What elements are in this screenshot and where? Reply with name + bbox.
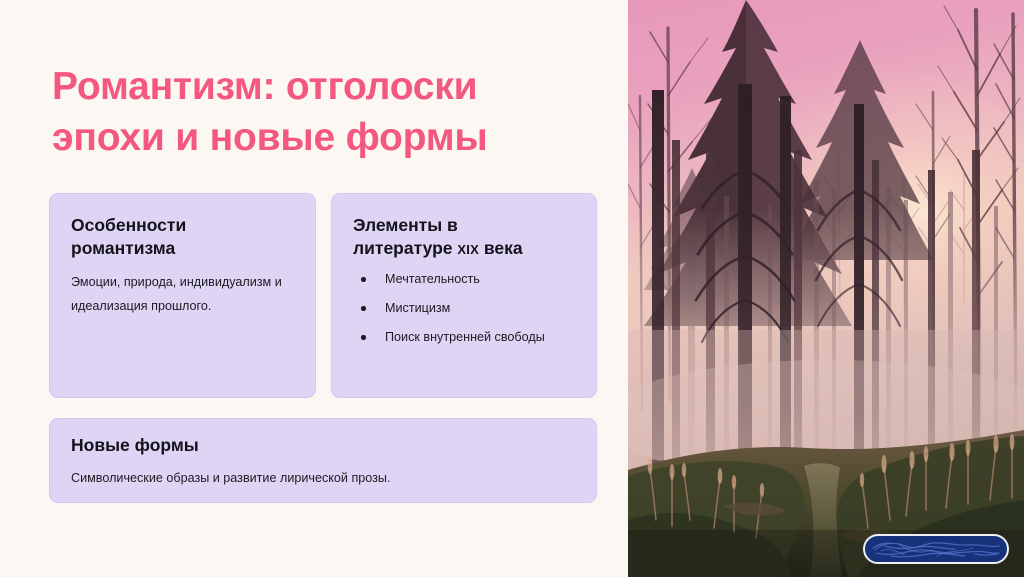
slide-canvas: Романтизм: отголоски эпохи и новые формы…	[0, 0, 1024, 577]
card-title-line-2-prefix: литературе	[353, 238, 457, 258]
forest-photo	[628, 0, 1024, 577]
watermark-badge[interactable]	[863, 534, 1009, 564]
card-body-text: Символические образы и развитие лирическ…	[50, 457, 596, 490]
card-body-text: Эмоции, природа, индивидуализм и идеализ…	[50, 260, 315, 318]
list-item: Мистицизм	[355, 299, 578, 319]
card-title-century: XIX	[457, 238, 479, 259]
list-item-label: Поиск внутренней свободы	[385, 330, 545, 344]
bullet-dot-icon	[361, 306, 366, 311]
list-item: Поиск внутренней свободы	[355, 328, 578, 348]
card-title: Элементы влитературе XIX века	[332, 194, 596, 261]
bullet-list: Мечтательность Мистицизм Поиск внутренне…	[332, 261, 596, 348]
list-item-label: Мечтательность	[385, 272, 480, 286]
page-title: Романтизм: отголоски эпохи и новые формы	[52, 62, 582, 163]
card-features-of-romanticism: Особенности романтизма Эмоции, природа, …	[49, 193, 316, 398]
bullet-dot-icon	[361, 335, 366, 340]
list-item: Мечтательность	[355, 270, 578, 290]
card-new-forms: Новые формы Символические образы и разви…	[49, 418, 597, 503]
forest-photo-illustration	[628, 0, 1024, 577]
card-title: Новые формы	[50, 419, 596, 457]
card-title: Особенности романтизма	[50, 194, 315, 260]
content-panel: Романтизм: отголоски эпохи и новые формы…	[0, 0, 628, 577]
watermark-scribble-icon	[865, 536, 1007, 562]
card-elements-in-literature: Элементы влитературе XIX века Мечтательн…	[331, 193, 597, 398]
list-item-label: Мистицизм	[385, 301, 450, 315]
card-title-line-1: Элементы в	[353, 215, 458, 235]
card-title-line-2-suffix: века	[479, 238, 523, 258]
bullet-dot-icon	[361, 277, 366, 282]
